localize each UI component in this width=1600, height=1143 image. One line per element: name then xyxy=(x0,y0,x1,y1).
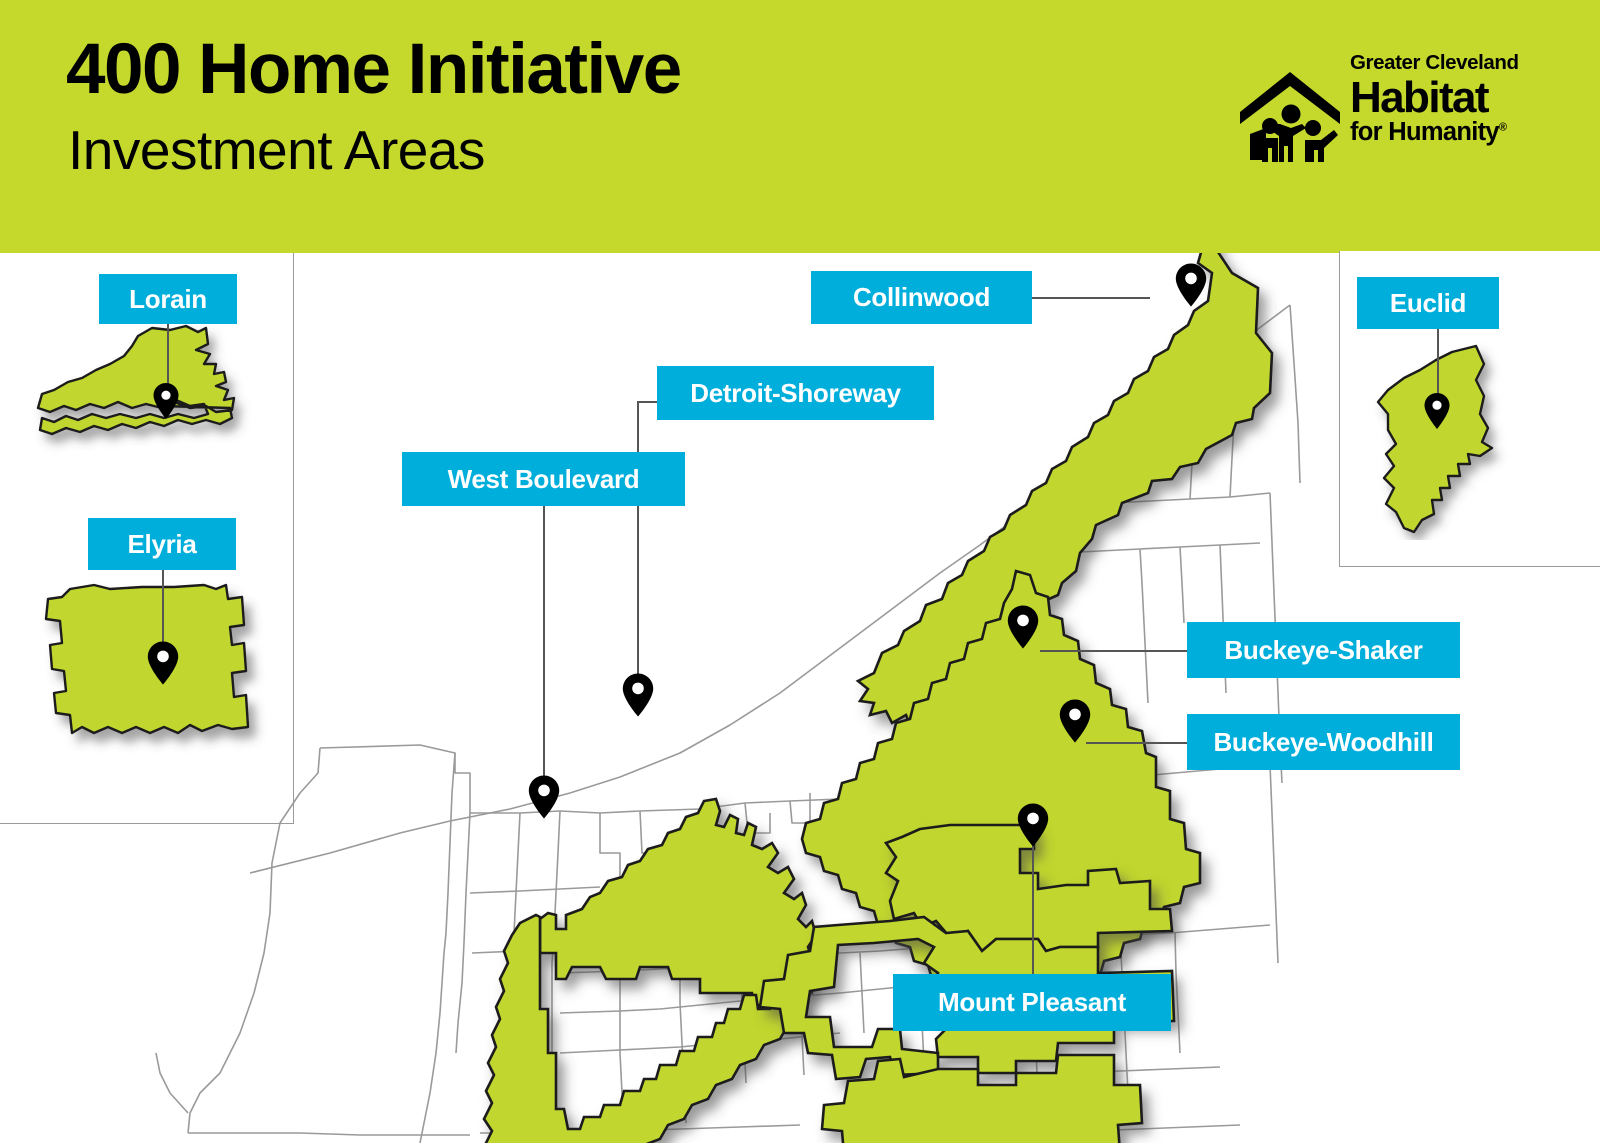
area-label-euclid[interactable]: Euclid xyxy=(1357,277,1499,329)
connector-buckeye-woodhill xyxy=(1086,742,1188,744)
connector-west-boulevard xyxy=(543,506,545,794)
registered-trademark-icon: ® xyxy=(1499,121,1506,133)
area-label-lorain[interactable]: Lorain xyxy=(99,274,237,324)
logo-line-habitat: Habitat xyxy=(1350,76,1536,119)
map-pin-detroit-shoreway[interactable] xyxy=(621,672,655,718)
area-label-buckeye-shaker[interactable]: Buckeye-Shaker xyxy=(1187,622,1460,678)
logo-wordmark: Greater Cleveland Habitat for Humanity® xyxy=(1350,52,1536,145)
map-pin-euclid[interactable] xyxy=(1423,392,1451,430)
page-subtitle: Investment Areas xyxy=(68,122,485,180)
area-label-collinwood[interactable]: Collinwood xyxy=(811,271,1032,324)
logo-line-greater-cleveland: Greater Cleveland xyxy=(1350,52,1536,75)
connector-mount-pleasant xyxy=(1032,836,1034,975)
connector-collinwood xyxy=(1032,297,1150,299)
map-pin-collinwood[interactable] xyxy=(1174,262,1208,308)
area-label-detroit-shoreway[interactable]: Detroit-Shoreway xyxy=(657,366,934,420)
area-shape-lorain-inset xyxy=(38,326,234,434)
area-label-buckeye-woodhill[interactable]: Buckeye-Woodhill xyxy=(1187,714,1460,770)
logo-line-for-humanity: for Humanity® xyxy=(1350,120,1536,146)
area-label-mount-pleasant[interactable]: Mount Pleasant xyxy=(893,974,1171,1031)
area-shape-detroit-shoreway xyxy=(540,799,816,1005)
page-title: 400 Home Initiative xyxy=(66,33,681,108)
connector-detroit-shoreway-vertical xyxy=(637,401,639,696)
connector-detroit-shoreway-horizontal xyxy=(637,401,659,403)
inset-map-euclid xyxy=(1352,340,1532,540)
header-banner: 400 Home Initiative Investment Areas xyxy=(0,0,1600,253)
inset-map-lorain xyxy=(20,320,280,480)
area-label-west-boulevard[interactable]: West Boulevard xyxy=(402,452,685,506)
area-label-elyria[interactable]: Elyria xyxy=(88,518,236,570)
habitat-logo: Greater Cleveland Habitat for Humanity® xyxy=(1236,52,1536,174)
map-pin-mount-pleasant[interactable] xyxy=(1016,802,1050,848)
area-shape-euclid-inset xyxy=(1378,346,1492,532)
map-pin-lorain[interactable] xyxy=(152,382,180,420)
map-pin-buckeye-shaker[interactable] xyxy=(1006,604,1040,650)
connector-buckeye-shaker xyxy=(1040,650,1188,652)
map-pin-west-boulevard[interactable] xyxy=(527,774,561,820)
map-pin-buckeye-woodhill[interactable] xyxy=(1058,698,1092,744)
map-pin-elyria[interactable] xyxy=(146,640,180,686)
infographic-page: 400 Home Initiative Investment Areas xyxy=(0,0,1600,1143)
logo-for-humanity-text: for Humanity xyxy=(1350,118,1499,146)
habitat-for-humanity-house-people-icon xyxy=(1236,60,1344,164)
